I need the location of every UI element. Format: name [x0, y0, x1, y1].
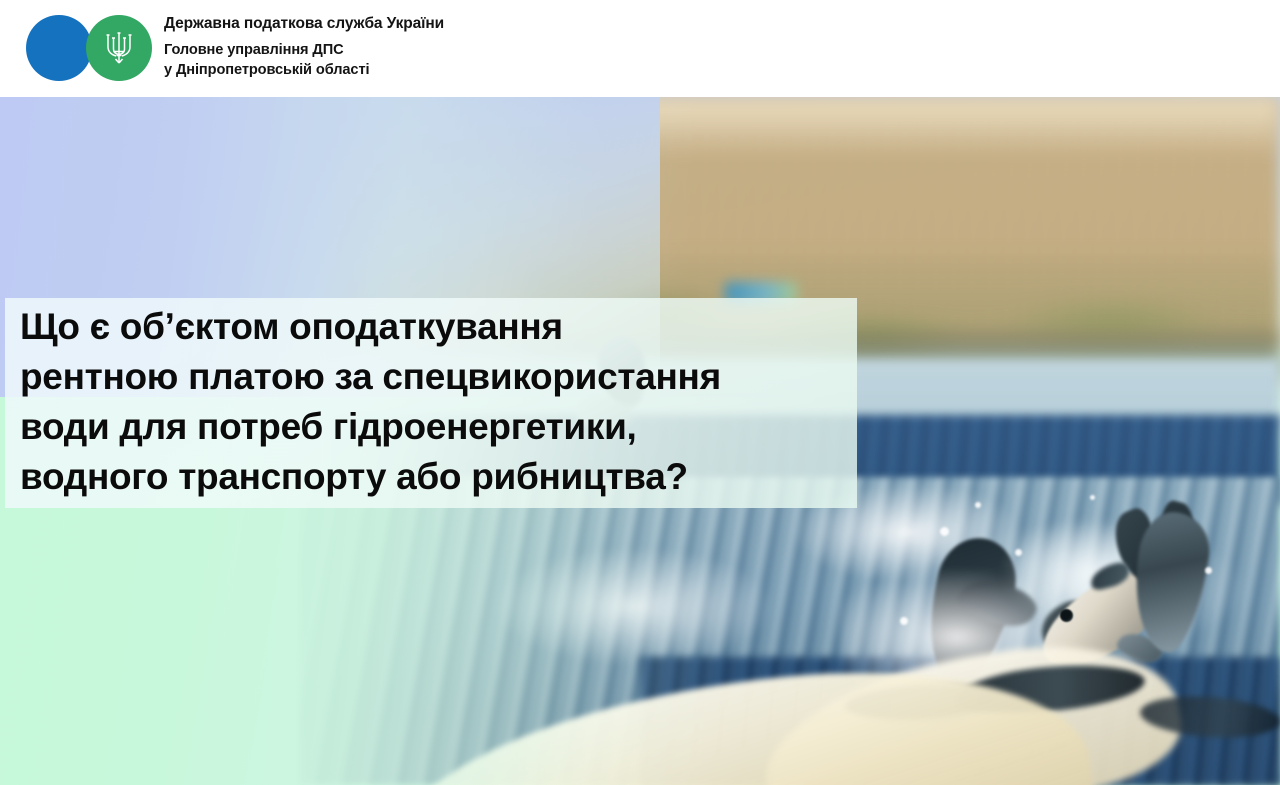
infographic-page: Державна податкова служба України Головн…: [0, 0, 1280, 785]
logo-circle-blue-icon: [26, 15, 92, 81]
water-droplet: [900, 617, 908, 625]
water-droplet: [1015, 549, 1022, 556]
headline-line-1: Що є об’єктом оподаткування: [20, 302, 870, 352]
page-title: Що є об’єктом оподаткування рентною плат…: [20, 302, 870, 502]
water-droplet: [975, 502, 981, 508]
water-droplet: [1090, 495, 1095, 500]
ukrainian-trident-icon: [104, 30, 134, 67]
water-droplet: [1205, 567, 1212, 574]
water-droplet: [940, 527, 949, 536]
agency-name-primary: Державна податкова служба України: [164, 14, 444, 33]
agency-name-secondary-line1: Головне управління ДПС: [164, 41, 444, 61]
headline-line-2: рентною платою за спецвикористання: [20, 352, 870, 402]
headline-line-3: води для потреб гідроенергетики,: [20, 402, 870, 452]
fish-eye: [1060, 609, 1073, 622]
agency-name-secondary-line2: у Дніпропетровській області: [164, 61, 444, 81]
headline-line-4: водного транспорту або рибництва?: [20, 452, 870, 502]
agency-logo: [26, 15, 160, 81]
header-bar: Державна податкова служба України Головн…: [0, 0, 1280, 97]
agency-name-block: Державна податкова служба України Головн…: [164, 14, 444, 80]
